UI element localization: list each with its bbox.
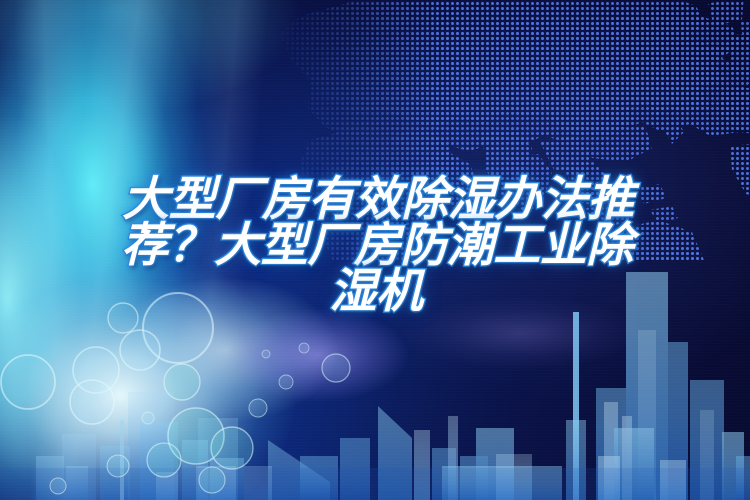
promo-banner: 大型厂房有效除湿办法推 荐？大型厂房防潮工业除 湿机: [0, 0, 750, 500]
title-line-2: 荐？大型厂房防潮工业除: [0, 222, 750, 268]
banner-title: 大型厂房有效除湿办法推 荐？大型厂房防潮工业除 湿机: [0, 176, 750, 314]
title-line-3: 湿机: [0, 268, 750, 314]
bubble-graphics: [0, 290, 430, 500]
title-line-1: 大型厂房有效除湿办法推: [0, 176, 750, 222]
